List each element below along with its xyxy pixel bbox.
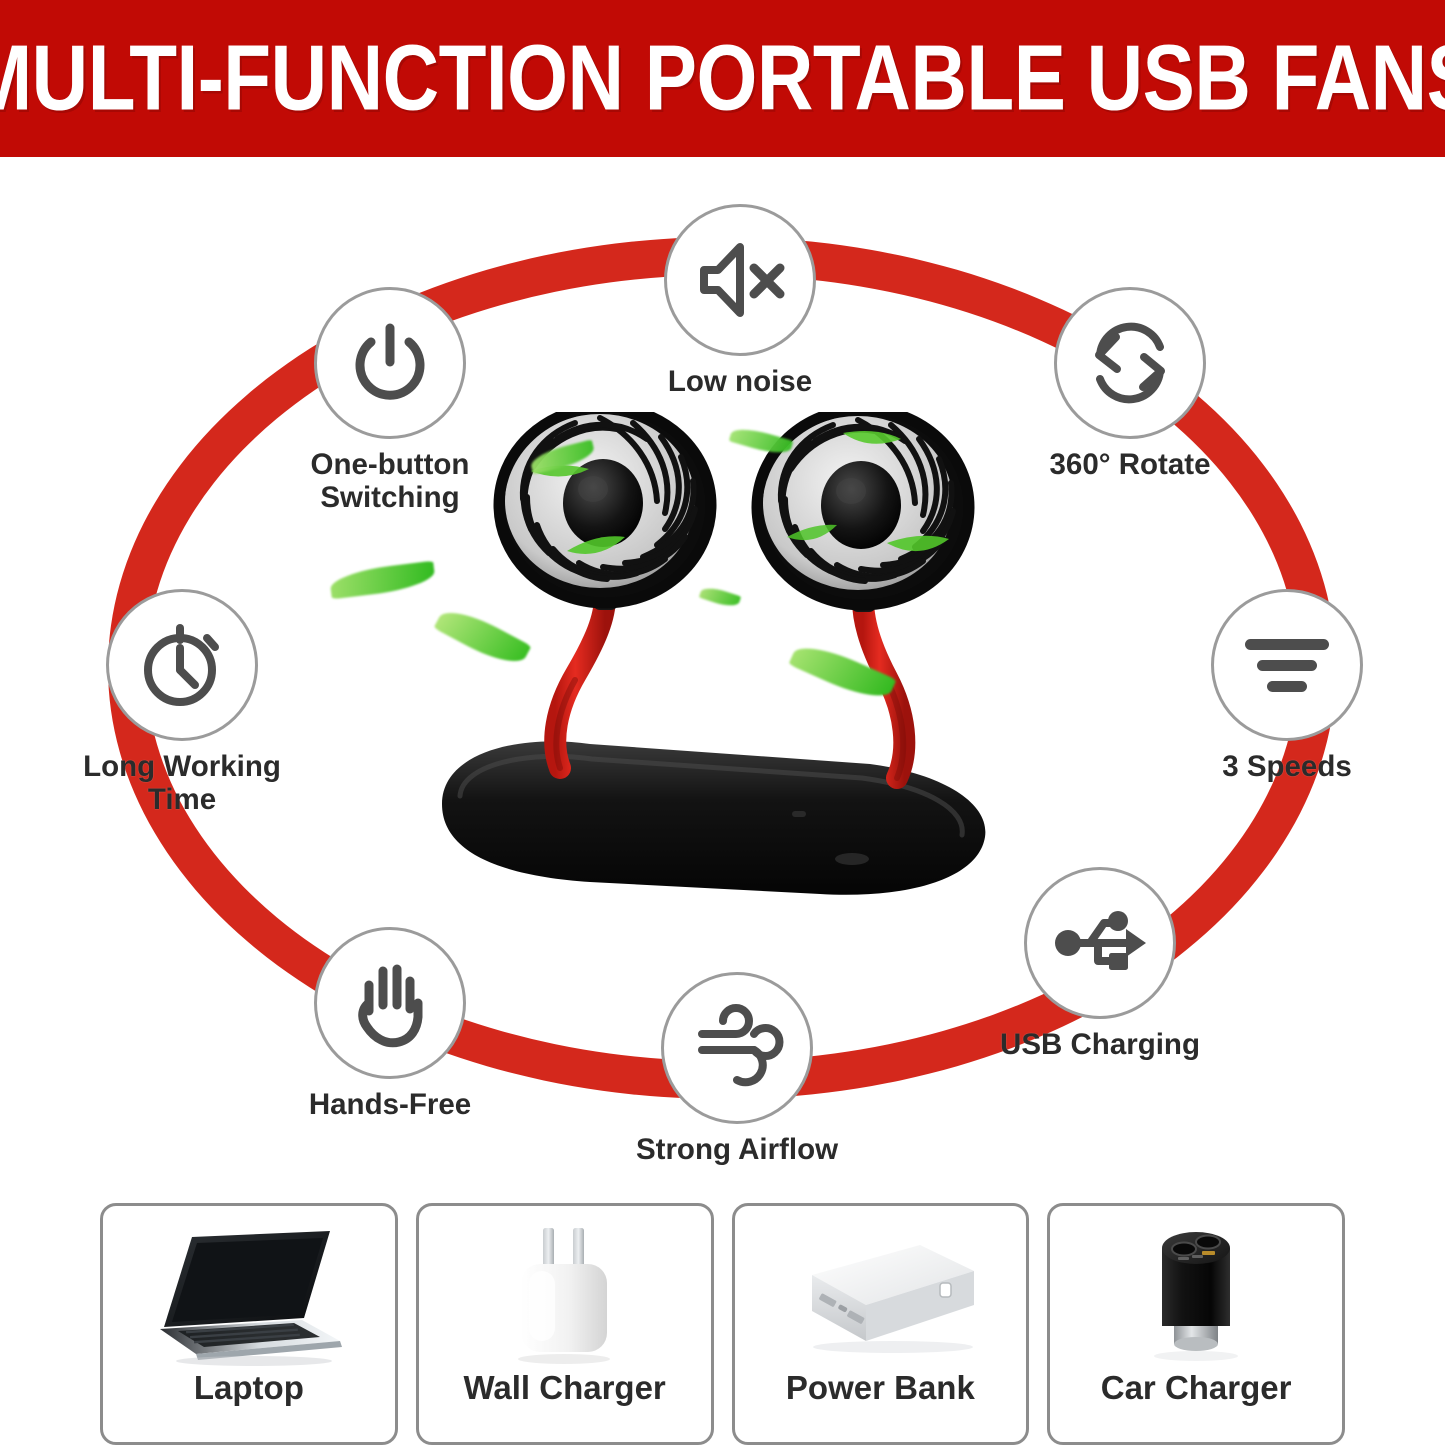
car-charger-image <box>1050 1206 1342 1371</box>
feature-label: 360° Rotate <box>1050 448 1211 481</box>
accessory-card-car-charger[interactable]: Car Charger <box>1047 1203 1345 1445</box>
laptop-image <box>103 1206 395 1371</box>
power-icon <box>344 317 436 409</box>
feature-label: One-button Switching <box>311 448 470 515</box>
feature-label: 3 Speeds <box>1222 750 1352 783</box>
feature-label: Hands-Free <box>309 1088 471 1121</box>
accessory-card-row: Laptop <box>0 1203 1445 1445</box>
feature-label: Long Working Time <box>67 750 297 817</box>
feature-badge-circle <box>661 972 813 1124</box>
feature-strong-airflow[interactable]: Strong Airflow <box>622 972 852 1166</box>
usb-icon <box>1052 899 1148 987</box>
accessory-card-wall-charger[interactable]: Wall Charger <box>416 1203 714 1445</box>
feature-badge-circle <box>1024 867 1176 1019</box>
header-banner: MULTI-FUNCTION PORTABLE USB FANS <box>0 0 1445 157</box>
feature-label: USB Charging <box>1000 1028 1200 1061</box>
feature-long-working-time[interactable]: Long Working Time <box>67 589 297 817</box>
accessory-label: Power Bank <box>786 1371 975 1404</box>
feature-badge-circle <box>664 204 816 356</box>
feature-360-rotate[interactable]: 360° Rotate <box>1015 287 1245 481</box>
wind-icon <box>690 1002 784 1094</box>
accessory-label: Car Charger <box>1101 1371 1292 1404</box>
neckband-fan-svg <box>400 412 1030 932</box>
feature-badge-circle <box>314 287 466 439</box>
feature-3-speeds[interactable]: 3 Speeds <box>1172 589 1402 783</box>
page-title: MULTI-FUNCTION PORTABLE USB FANS <box>0 32 1445 125</box>
feature-badge-circle <box>1054 287 1206 439</box>
accessory-card-laptop[interactable]: Laptop <box>100 1203 398 1445</box>
speaker-mute-icon <box>692 234 788 326</box>
wall-charger-image <box>419 1206 711 1371</box>
stopwatch-icon <box>135 618 229 712</box>
rotate-icon <box>1084 317 1176 409</box>
feature-low-noise[interactable]: Low noise <box>625 204 855 398</box>
feature-hands-free[interactable]: Hands-Free <box>275 927 505 1121</box>
feature-label: Low noise <box>668 365 812 398</box>
feature-stage: One-button Switching Low noise <box>0 157 1445 1197</box>
accessory-label: Wall Charger <box>463 1371 665 1404</box>
power-bank-image <box>735 1206 1027 1371</box>
accessory-card-power-bank[interactable]: Power Bank <box>732 1203 1030 1445</box>
product-image-neckband-fan <box>400 412 1030 932</box>
feature-label: Strong Airflow <box>636 1133 838 1166</box>
feature-badge-circle <box>314 927 466 1079</box>
hand-icon <box>347 955 433 1051</box>
product-infographic: MULTI-FUNCTION PORTABLE USB FANS <box>0 0 1445 1445</box>
speed-levels-icon <box>1239 629 1335 701</box>
feature-badge-circle <box>106 589 258 741</box>
feature-badge-circle <box>1211 589 1363 741</box>
accessory-label: Laptop <box>194 1371 304 1404</box>
